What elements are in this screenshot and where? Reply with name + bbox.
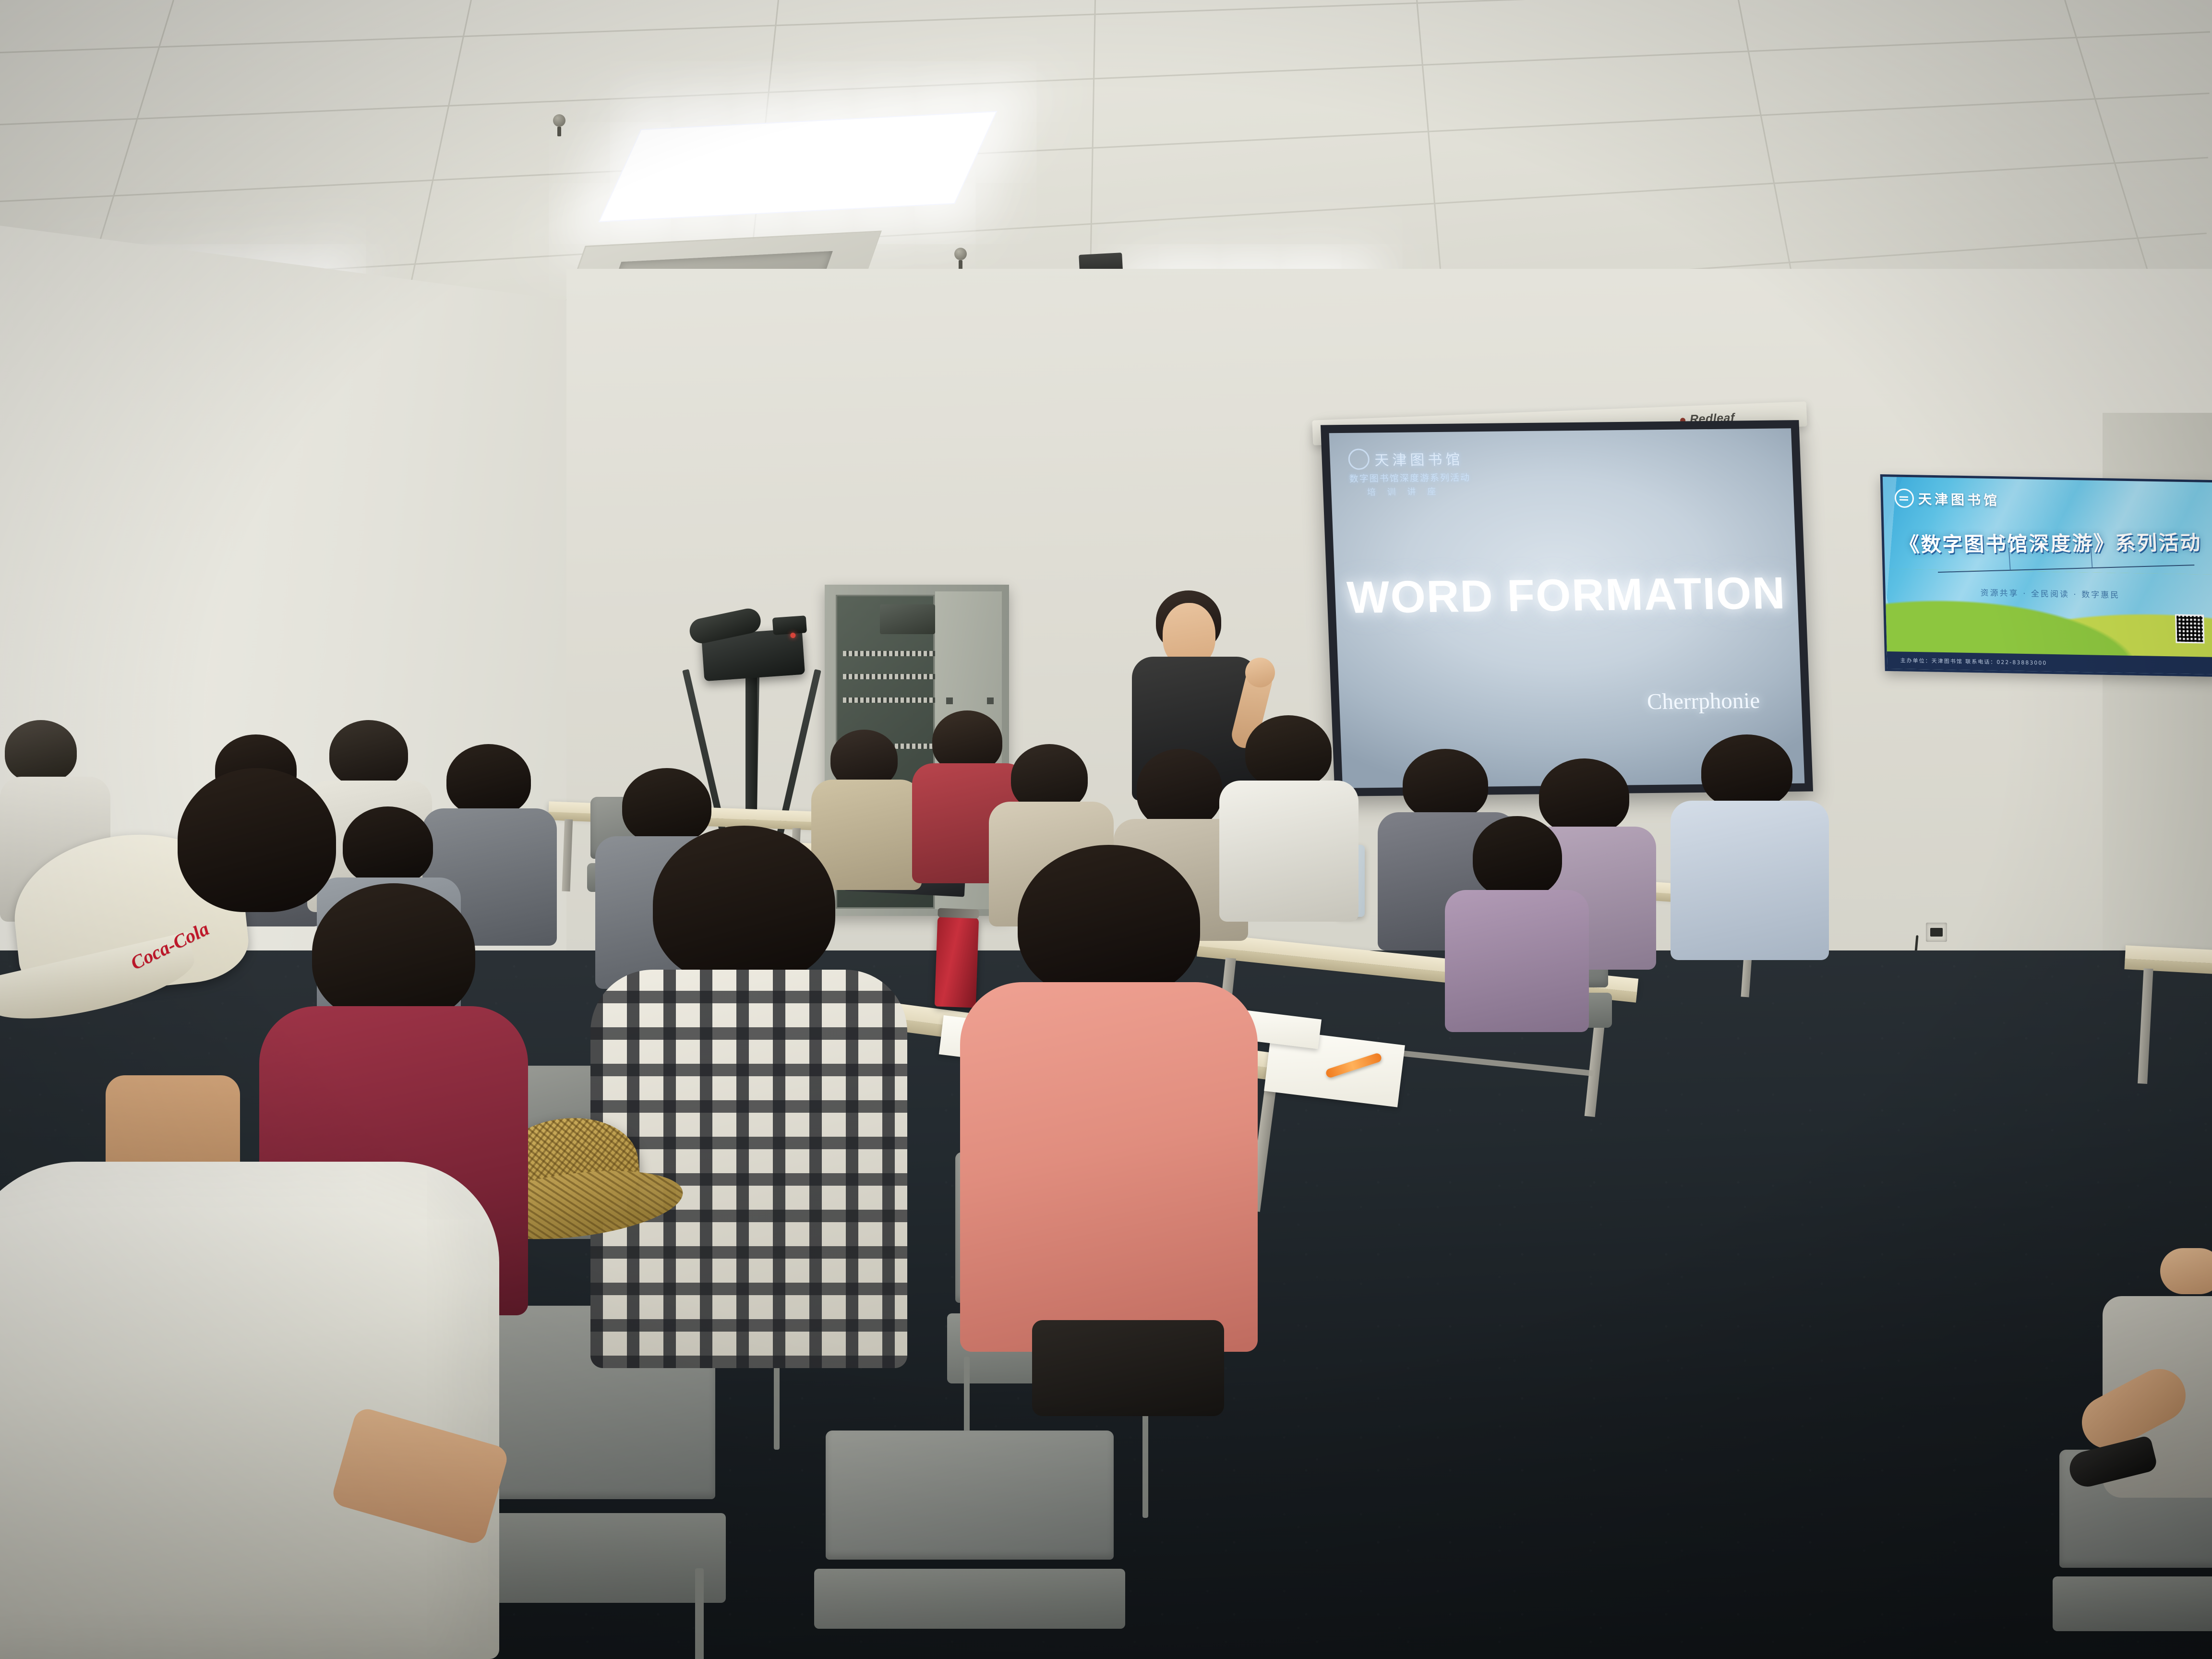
presenter-hand [1245, 658, 1275, 687]
qr-code-icon [2175, 614, 2205, 644]
attendee-hair [178, 768, 336, 912]
camera-viewfinder [772, 615, 807, 635]
attendee-hair [1245, 715, 1332, 788]
attendee-hair [1701, 734, 1792, 808]
attendee-hair [5, 720, 77, 782]
attendee-torso [1671, 801, 1829, 960]
banner-hills-graphic [1880, 568, 2212, 663]
wall-power-outlet [1926, 923, 1947, 942]
attendee-hair [446, 744, 531, 816]
attendee-hair [1011, 744, 1088, 811]
record-indicator-icon [790, 633, 796, 638]
slide-logo-primary: 天津图书馆 [1374, 448, 1464, 470]
wall-banner: 天津图书馆 《数字图书馆深度游》系列活动 资源共享 · 全民阅读 · 数字惠民 … [1880, 474, 2212, 677]
attendee-salmon-blouse [960, 845, 1258, 1402]
desk-leg [2138, 968, 2153, 1084]
slide-title: WORD FORMATION [1334, 567, 1798, 624]
rack-screw [946, 697, 953, 704]
stacking-chair [826, 1431, 1114, 1659]
attendee [1445, 816, 1589, 1032]
attendee-plaid-shirt [590, 826, 907, 1368]
attendee-white-polo [0, 1162, 499, 1659]
library-emblem-icon [1348, 449, 1370, 470]
attendee-hand [2160, 1248, 2212, 1294]
attendee-salmon-torso [960, 982, 1258, 1352]
chair-leg [695, 1568, 704, 1659]
attendee-torso [1445, 890, 1589, 1032]
attendee-hair [1018, 845, 1200, 998]
rack-speaker [880, 604, 935, 634]
attendee-hair [653, 826, 835, 984]
attendee-skirt [1032, 1320, 1224, 1416]
attendee-hair [1137, 749, 1222, 829]
desk-leg [562, 819, 573, 892]
chair-seat [814, 1569, 1125, 1629]
sprinkler-head [553, 114, 565, 127]
classroom-photo: Redleaf 天津图书馆 数字图书馆深度游系列活动 培 训 讲 座 WORD … [0, 0, 2212, 1659]
library-emblem-icon [1894, 488, 1914, 508]
slide-logo-secondary: 数字图书馆深度游系列活动 [1349, 470, 1488, 485]
attendee-hair [1473, 816, 1562, 898]
slide-logo: 天津图书馆 数字图书馆深度游系列活动 培 训 讲 座 [1348, 447, 1489, 498]
banner-logo: 天津图书馆 [1894, 488, 2000, 509]
rack-screw [987, 697, 994, 704]
banner-footer-text: 主办单位：天津图书馆 联系电话：022-83883000 [1900, 656, 2047, 666]
chair-back [826, 1431, 1114, 1560]
banner-organization: 天津图书馆 [1918, 489, 2000, 509]
attendee [158, 768, 360, 1066]
attendee [1671, 734, 1829, 960]
video-camera [701, 628, 805, 681]
slide-author: Cherrphonie [1647, 688, 1760, 715]
attendee-right-edge [2074, 1190, 2212, 1659]
attendee-hair [1403, 749, 1488, 820]
slide-logo-tertiary: 培 训 讲 座 [1367, 484, 1489, 498]
sprinkler-head [954, 248, 967, 260]
training-desk [2118, 945, 2212, 1100]
banner-headline: 《数字图书馆深度游》系列活动 [1897, 527, 2204, 558]
